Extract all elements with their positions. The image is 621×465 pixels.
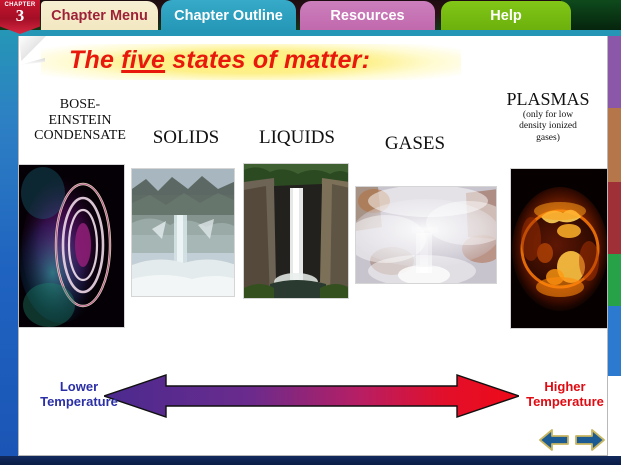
tab-chapter-menu-label: Chapter Menu xyxy=(51,8,148,24)
temperature-gradient-arrow-graphic xyxy=(104,373,519,421)
gases-photo[interactable] xyxy=(355,186,497,284)
lower-temperature-label: Lower Temperature xyxy=(31,380,127,410)
tab-help[interactable]: Help xyxy=(441,1,571,31)
previous-slide-arrow-icon[interactable] xyxy=(539,429,569,451)
frame-right-segment-2 xyxy=(608,182,621,254)
slide-title: The five states of matter: xyxy=(69,46,370,75)
sun-plasma-graphic xyxy=(511,169,608,329)
tab-chapter-outline-label: Chapter Outline xyxy=(174,8,283,24)
label-line: LIQUIDS xyxy=(241,127,353,148)
slide-title-underlined-word: five xyxy=(121,46,165,74)
tab-chapter-menu[interactable]: Chapter Menu xyxy=(41,1,158,31)
frame-bottom-border xyxy=(0,456,621,465)
bec-rings-graphic xyxy=(19,165,125,328)
liquids-photo[interactable] xyxy=(243,163,349,299)
chapter-badge-number: 3 xyxy=(0,8,40,24)
frame-left-border xyxy=(0,30,18,465)
column-plasmas: PLASMAS (only for low density ionized ga… xyxy=(489,89,607,144)
frame-right-segment-1 xyxy=(608,108,621,182)
column-label-liquids: LIQUIDS xyxy=(241,127,353,148)
label-line: Temperature xyxy=(517,395,608,410)
slide-title-suffix: states of matter: xyxy=(165,46,370,74)
label-line: Higher xyxy=(517,380,608,395)
slide-canvas: The five states of matter: BOSE- EINSTEI… xyxy=(18,34,608,456)
column-solids: SOLIDS xyxy=(131,127,241,148)
tab-help-label: Help xyxy=(490,8,521,24)
column-gases: GASES xyxy=(359,133,471,154)
temperature-double-arrow xyxy=(104,373,519,421)
frame-right-segment-0 xyxy=(608,30,621,108)
tab-chapter-outline[interactable]: Chapter Outline xyxy=(161,0,296,32)
slide-navigation-buttons xyxy=(535,425,608,455)
sublabel-line: (only for low xyxy=(489,110,607,121)
column-label-gases: GASES xyxy=(359,133,471,154)
label-line: BOSE- xyxy=(19,97,141,113)
plasmas-photo[interactable] xyxy=(510,168,608,329)
frame-right-segment-3 xyxy=(608,254,621,306)
column-sublabel-plasmas: (only for low density ionized gases) xyxy=(489,110,607,144)
higher-temperature-label: Higher Temperature xyxy=(517,380,608,410)
slide-title-prefix: The xyxy=(69,46,121,74)
tab-resources[interactable]: Resources xyxy=(300,1,435,31)
sublabel-line: gases) xyxy=(489,133,607,144)
solids-photo[interactable] xyxy=(131,168,235,297)
label-line: EINSTEIN xyxy=(19,113,141,129)
waterfall-graphic xyxy=(244,164,349,299)
column-liquids: LIQUIDS xyxy=(241,127,353,148)
column-label-bose-einstein-condensate: BOSE- EINSTEIN CONDENSATE xyxy=(19,97,141,144)
label-line: PLASMAS xyxy=(489,89,607,109)
tab-resources-label: Resources xyxy=(330,8,404,24)
sublabel-line: density ionized xyxy=(489,121,607,132)
presentation-window: Chapter Menu Chapter Outline Resources H… xyxy=(0,0,621,465)
column-bose-einstein-condensate: BOSE- EINSTEIN CONDENSATE xyxy=(19,97,141,144)
misty-waterfall-graphic xyxy=(356,187,497,284)
frame-right-segment-5 xyxy=(608,376,621,465)
label-line: Temperature xyxy=(31,395,127,410)
frame-right-color-strip xyxy=(608,30,621,465)
label-line: Lower xyxy=(31,380,127,395)
column-label-solids: SOLIDS xyxy=(131,127,241,148)
next-slide-arrow-icon[interactable] xyxy=(575,429,605,451)
column-label-plasmas: PLASMAS xyxy=(489,89,607,109)
frozen-waterfall-graphic xyxy=(132,169,235,297)
tab-bar: Chapter Menu Chapter Outline Resources H… xyxy=(0,0,621,32)
label-line: GASES xyxy=(359,133,471,154)
tab-bar-underline xyxy=(0,30,621,36)
label-line: CONDENSATE xyxy=(19,128,141,144)
label-line: SOLIDS xyxy=(131,127,241,148)
bose-einstein-condensate-photo[interactable] xyxy=(18,164,125,328)
frame-right-segment-4 xyxy=(608,306,621,376)
